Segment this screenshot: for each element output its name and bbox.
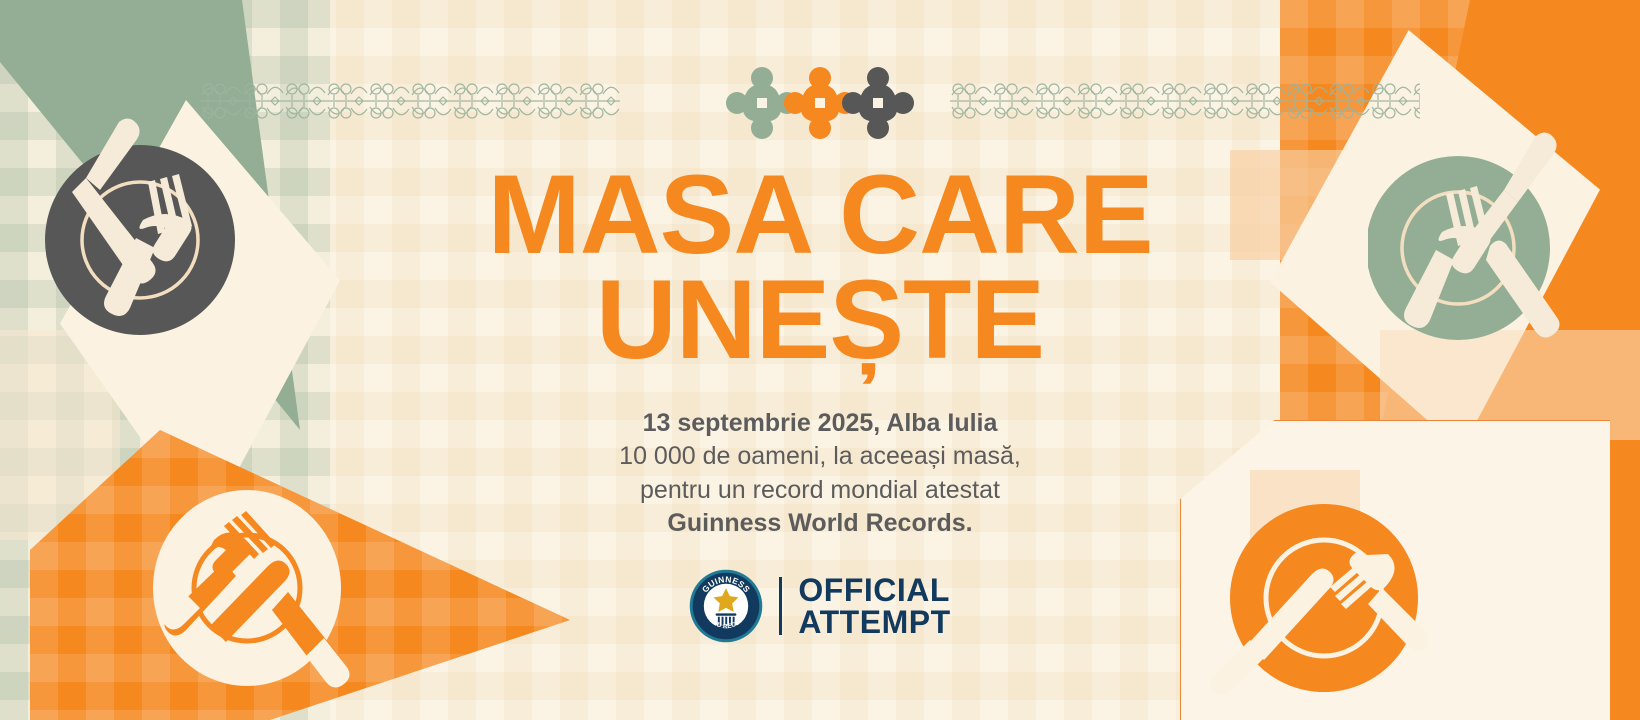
headline-line-2: UNEȘTE — [0, 267, 1640, 372]
promotional-banner: MASA CARE UNEȘTE 13 septembrie 2025, Alb… — [0, 0, 1640, 720]
badge-divider — [779, 577, 782, 635]
official-attempt-label: OFFICIAL ATTEMPT — [798, 574, 950, 638]
attempt-label: ATTEMPT — [798, 606, 950, 638]
event-record-authority: Guinness World Records. — [0, 507, 1640, 541]
official-label: OFFICIAL — [798, 574, 950, 606]
event-description-line-2: pentru un record mondial atestat — [0, 474, 1640, 508]
page-title: MASA CARE UNEȘTE — [0, 162, 1640, 373]
banner-center-content: MASA CARE UNEȘTE 13 septembrie 2025, Alb… — [0, 0, 1640, 648]
event-description-line-1: 10 000 de oameni, la aceeași masă, — [0, 440, 1640, 474]
people-around-table-icon — [720, 58, 920, 148]
event-details: 13 septembrie 2025, Alba Iulia 10 000 de… — [0, 407, 1640, 541]
guinness-world-records-seal-icon: GUINNESS WORLD RECORDS — [689, 569, 763, 643]
guinness-official-attempt-badge: GUINNESS WORLD RECORDS OFFICIAL ATTEMPT — [689, 569, 950, 643]
event-date-location: 13 septembrie 2025, Alba Iulia — [0, 407, 1640, 441]
